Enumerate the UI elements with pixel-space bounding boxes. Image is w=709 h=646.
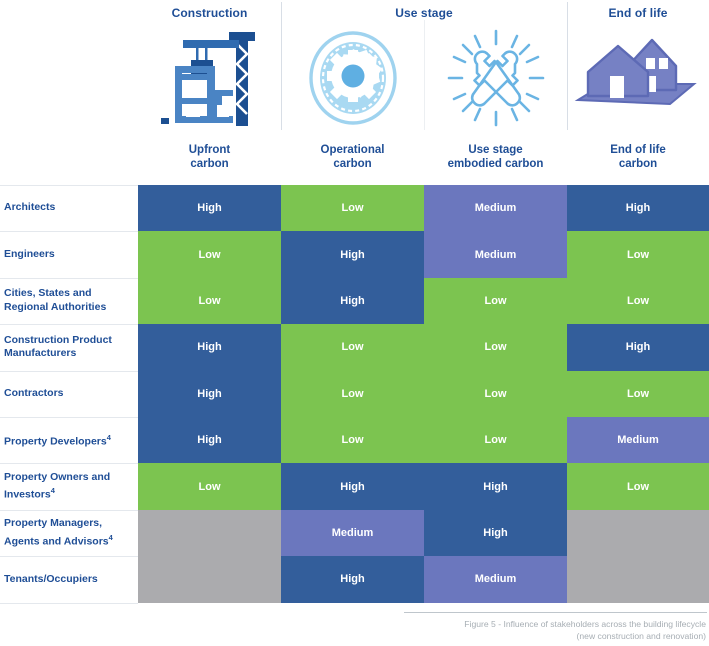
row-label-engineers: Engineers [4,231,132,277]
cell-architects-operational-carbon[interactable]: Low [281,185,424,231]
cell-property-managers-operational-carbon[interactable]: Medium [281,510,424,556]
row-label-cities-states-regional-authorities: Cities, States and Regional Authorities [4,278,132,324]
figure-caption-line1: Figure 5 - Influence of stakeholders acr… [340,619,706,631]
cell-architects-end-of-life-carbon[interactable]: High [567,185,709,231]
figure-caption-line2: (new construction and renovation) [340,631,706,643]
cell-engineers-upfront-carbon[interactable]: Low [138,231,281,277]
column-label-line1: Use stage [424,143,567,157]
row-label-text: Property Developers [4,436,107,448]
cell-cities-states-operational-carbon[interactable]: High [281,278,424,324]
row-label-superscript: 4 [107,433,111,442]
cell-tenants-occupiers-upfront-carbon[interactable] [138,556,281,602]
stage-label-end-of-life: End of life [567,6,709,20]
row-label-property-developers: Property Developers4 [4,417,132,463]
cell-property-owners-investors-upfront-carbon[interactable]: Low [138,463,281,509]
row-label-contractors: Contractors [4,371,132,417]
column-label-line2: carbon [281,157,424,171]
row-label-text: Cities, States and [4,287,92,299]
column-label-line1: Upfront [138,143,281,157]
column-label-line2: carbon [567,157,709,171]
houses-icon [567,28,709,130]
stage-label-construction: Construction [138,6,281,20]
cell-contractors-end-of-life-carbon[interactable]: Low [567,371,709,417]
figure-root: Construction Use stage End of life [0,0,709,646]
row-label-property-owners-and-investors: Property Owners and Investors4 [4,463,132,509]
cell-property-owners-investors-end-of-life-carbon[interactable]: Low [567,463,709,509]
row-rule [0,603,138,604]
cell-property-developers-end-of-life-carbon[interactable]: Medium [567,417,709,463]
row-label-text-2: Agents and Advisors [4,535,109,547]
operational-gear-icon [281,28,424,130]
cell-construction-product-manufacturers-upfront-carbon[interactable]: High [138,324,281,370]
figure-caption: Figure 5 - Influence of stakeholders acr… [340,619,706,642]
cell-engineers-use-stage-embodied-carbon[interactable]: Medium [424,231,567,277]
stakeholder-influence-matrix: Architects Engineers Cities, States and … [0,185,709,603]
row-label-architects: Architects [4,185,132,231]
column-label-line2: embodied carbon [424,157,567,171]
row-label-text: Property Owners and [4,471,110,483]
cell-tenants-occupiers-use-stage-embodied-carbon[interactable]: Medium [424,556,567,602]
cell-architects-use-stage-embodied-carbon[interactable]: Medium [424,185,567,231]
column-label-operational-carbon: Operational carbon [281,143,424,171]
maintenance-wrenches-icon [424,28,567,130]
cell-tenants-occupiers-operational-carbon[interactable]: High [281,556,424,602]
column-label-end-of-life-carbon: End of life carbon [567,143,709,171]
row-label-text-2: Manufacturers [4,347,76,359]
row-label-tenants-occupiers: Tenants/Occupiers [4,556,132,602]
stage-label-use-stage: Use stage [281,6,567,20]
cell-engineers-end-of-life-carbon[interactable]: Low [567,231,709,277]
cell-engineers-operational-carbon[interactable]: High [281,231,424,277]
column-label-line1: Operational [281,143,424,157]
row-label-text-2: Regional Authorities [4,301,106,313]
construction-crane-icon [138,28,281,130]
row-label-text: Tenants/Occupiers [4,573,98,585]
row-label-text: Property Managers, [4,517,102,529]
cell-property-developers-upfront-carbon[interactable]: High [138,417,281,463]
column-label-line1: End of life [567,143,709,157]
cell-contractors-operational-carbon[interactable]: Low [281,371,424,417]
column-label-upfront-carbon: Upfront carbon [138,143,281,171]
cell-cities-states-end-of-life-carbon[interactable]: Low [567,278,709,324]
row-label-property-managers-agents-advisors: Property Managers, Agents and Advisors4 [4,510,132,556]
row-label-text: Construction Product [4,334,112,346]
cell-construction-product-manufacturers-use-stage-embodied-carbon[interactable]: Low [424,324,567,370]
row-label-text: Contractors [4,387,64,399]
cell-property-owners-investors-operational-carbon[interactable]: High [281,463,424,509]
column-label-line2: carbon [138,157,281,171]
cell-tenants-occupiers-end-of-life-carbon[interactable] [567,556,709,602]
cell-contractors-upfront-carbon[interactable]: High [138,371,281,417]
cell-property-managers-use-stage-embodied-carbon[interactable]: High [424,510,567,556]
cell-construction-product-manufacturers-end-of-life-carbon[interactable]: High [567,324,709,370]
cell-property-developers-use-stage-embodied-carbon[interactable]: Low [424,417,567,463]
cell-construction-product-manufacturers-operational-carbon[interactable]: Low [281,324,424,370]
cell-property-owners-investors-use-stage-embodied-carbon[interactable]: High [424,463,567,509]
cell-architects-upfront-carbon[interactable]: High [138,185,281,231]
cell-cities-states-upfront-carbon[interactable]: Low [138,278,281,324]
row-label-superscript: 4 [109,533,113,542]
cell-cities-states-use-stage-embodied-carbon[interactable]: Low [424,278,567,324]
row-label-text-2: Investors [4,489,51,501]
row-label-superscript: 4 [51,486,55,495]
cell-property-managers-upfront-carbon[interactable] [138,510,281,556]
cell-property-developers-operational-carbon[interactable]: Low [281,417,424,463]
caption-divider [404,612,707,613]
row-label-text: Engineers [4,248,55,260]
row-label-text: Architects [4,201,55,213]
cell-property-managers-end-of-life-carbon[interactable] [567,510,709,556]
cell-contractors-use-stage-embodied-carbon[interactable]: Low [424,371,567,417]
lifecycle-header-band: Construction Use stage End of life [0,0,709,180]
row-label-construction-product-manufacturers: Construction Product Manufacturers [4,324,132,370]
column-label-use-stage-embodied-carbon: Use stage embodied carbon [424,143,567,171]
